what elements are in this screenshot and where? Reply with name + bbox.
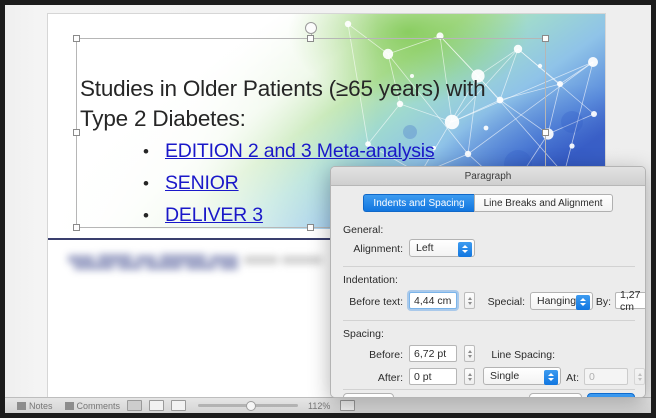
by-label: By: <box>594 296 611 308</box>
alignment-select[interactable]: Left <box>409 239 475 257</box>
line-spacing-label: Line Spacing: <box>483 349 555 361</box>
bullet-link[interactable]: EDITION 2 and 3 Meta-analysis <box>165 140 434 163</box>
screenshot-frame: Studies in Older Patients (≥65 years) wi… <box>0 0 656 418</box>
general-section-label: General: <box>343 224 383 236</box>
special-value: Hanging <box>537 295 576 307</box>
dialog-tabbar: Indents and Spacing Line Breaks and Alig… <box>331 186 645 212</box>
status-bar: Notes Comments 112% <box>5 397 651 413</box>
comments-button[interactable]: Comments <box>65 401 121 411</box>
spacing-after-input[interactable]: 0 pt <box>409 368 457 385</box>
slide-title[interactable]: Studies in Older Patients (≥65 years) wi… <box>80 74 520 135</box>
view-reading-button[interactable] <box>171 400 186 411</box>
redacted-text-block <box>66 252 316 274</box>
notes-icon <box>17 402 26 410</box>
view-slide-sorter-button[interactable] <box>149 400 164 411</box>
ok-button[interactable]: OK <box>587 393 635 398</box>
before-text-label: Before text: <box>343 296 403 308</box>
at-label: At: <box>565 372 579 384</box>
spacing-before-label: Before: <box>343 349 403 361</box>
spacing-after-label: After: <box>343 372 403 384</box>
cancel-button[interactable]: Cancel <box>529 393 582 398</box>
before-text-input[interactable]: 4,44 cm <box>409 292 457 309</box>
line-spacing-select[interactable]: Single <box>483 367 561 385</box>
zoom-level-label: 112% <box>308 401 330 411</box>
notes-button[interactable]: Notes <box>17 401 53 411</box>
dialog-body: Indents and Spacing Line Breaks and Alig… <box>331 186 645 398</box>
spacing-before-input[interactable]: 6,72 pt <box>409 345 457 362</box>
chevron-updown-icon <box>458 242 472 257</box>
indentation-section-label: Indentation: <box>343 274 398 286</box>
divider <box>343 389 635 390</box>
tabs-button[interactable]: Tabs... <box>343 393 394 398</box>
special-label: Special: <box>483 296 525 308</box>
special-select[interactable]: Hanging <box>530 292 593 310</box>
screenshot-inner: Studies in Older Patients (≥65 years) wi… <box>5 5 651 413</box>
fit-slide-button[interactable] <box>340 400 355 411</box>
bullet-link[interactable]: SENIOR <box>165 172 239 195</box>
chevron-updown-icon <box>544 370 558 385</box>
divider <box>343 266 635 267</box>
tab-line-breaks-and-alignment[interactable]: Line Breaks and Alignment <box>474 194 613 212</box>
bullet-marker-icon: • <box>143 174 165 194</box>
list-item[interactable]: • EDITION 2 and 3 Meta-analysis <box>143 140 543 163</box>
comments-label: Comments <box>77 401 121 411</box>
alignment-label: Alignment: <box>343 243 403 255</box>
at-input[interactable]: 0 <box>584 368 628 385</box>
dialog-titlebar: Paragraph <box>331 167 645 186</box>
spacing-before-stepper[interactable] <box>464 345 475 362</box>
chevron-updown-icon <box>576 295 590 310</box>
zoom-slider[interactable] <box>198 404 298 407</box>
bullet-marker-icon: • <box>143 206 165 226</box>
by-input[interactable]: 1,27 cm <box>615 292 646 309</box>
before-text-stepper[interactable] <box>464 292 475 309</box>
bullet-link[interactable]: DELIVER 3 <box>165 204 263 227</box>
notes-label: Notes <box>29 401 53 411</box>
at-stepper <box>634 368 645 385</box>
dialog-title: Paragraph <box>465 171 512 182</box>
alignment-value: Left <box>416 242 434 254</box>
spacing-after-stepper[interactable] <box>464 368 475 385</box>
comments-icon <box>65 402 74 410</box>
divider <box>343 320 635 321</box>
tab-indents-and-spacing[interactable]: Indents and Spacing <box>363 194 473 212</box>
paragraph-dialog[interactable]: Paragraph Indents and Spacing Line Break… <box>330 166 646 398</box>
zoom-slider-knob[interactable] <box>246 401 256 411</box>
spacing-section-label: Spacing: <box>343 328 384 340</box>
line-spacing-value: Single <box>490 370 519 382</box>
view-normal-button[interactable] <box>127 400 142 411</box>
bullet-marker-icon: • <box>143 142 165 162</box>
